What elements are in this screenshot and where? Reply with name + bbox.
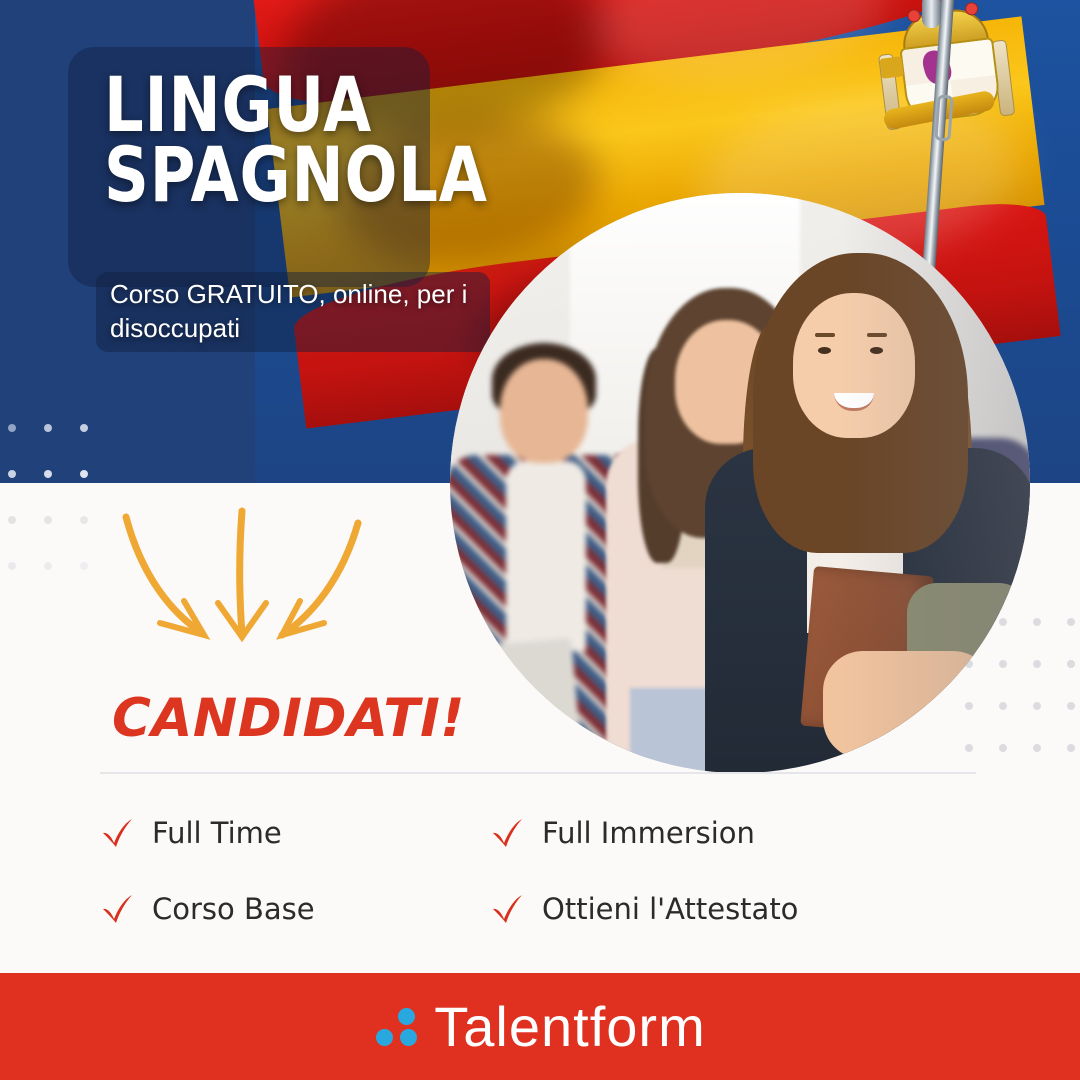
check-icon [100,816,134,850]
flag-pole-clip [934,94,953,141]
brand-name: Talentform [434,994,705,1059]
brand-logo[interactable]: Talentform [374,994,705,1059]
page-title: LINGUA SPAGNOLA [104,70,524,210]
list-item-label: Corso Base [152,892,315,926]
decorative-dot-grid-left [8,424,116,608]
list-item-label: Ottieni l'Attestato [542,892,798,926]
check-icon [490,892,524,926]
flag-pole-knob [922,0,941,28]
list-item: Full Time [100,795,490,871]
section-divider [100,772,976,774]
three-blue-dots-icon [374,1006,420,1048]
title-line-2: SPAGNOLA [104,140,448,210]
list-item-label: Full Time [152,816,282,850]
list-item: Full Immersion [490,795,1000,871]
three-curved-down-arrows-icon [120,505,380,675]
list-item-label: Full Immersion [542,816,755,850]
list-item: Corso Base [100,871,490,947]
features-list: Full Time Full Immersion Corso Base Otti… [100,795,1000,947]
photo-vignette [840,193,1030,773]
students-photo [450,193,1030,773]
cta-headline: CANDIDATI! [112,688,465,749]
footer-bar: Talentform [0,973,1080,1080]
arms-castle [880,56,904,79]
list-item: Ottieni l'Attestato [490,871,1000,947]
page-subtitle: Corso GRATUITO, online, per i disoccupat… [110,277,500,346]
check-icon [490,816,524,850]
poster-canvas: LINGUA SPAGNOLA Corso GRATUITO, online, … [0,0,1080,1080]
check-icon [100,892,134,926]
